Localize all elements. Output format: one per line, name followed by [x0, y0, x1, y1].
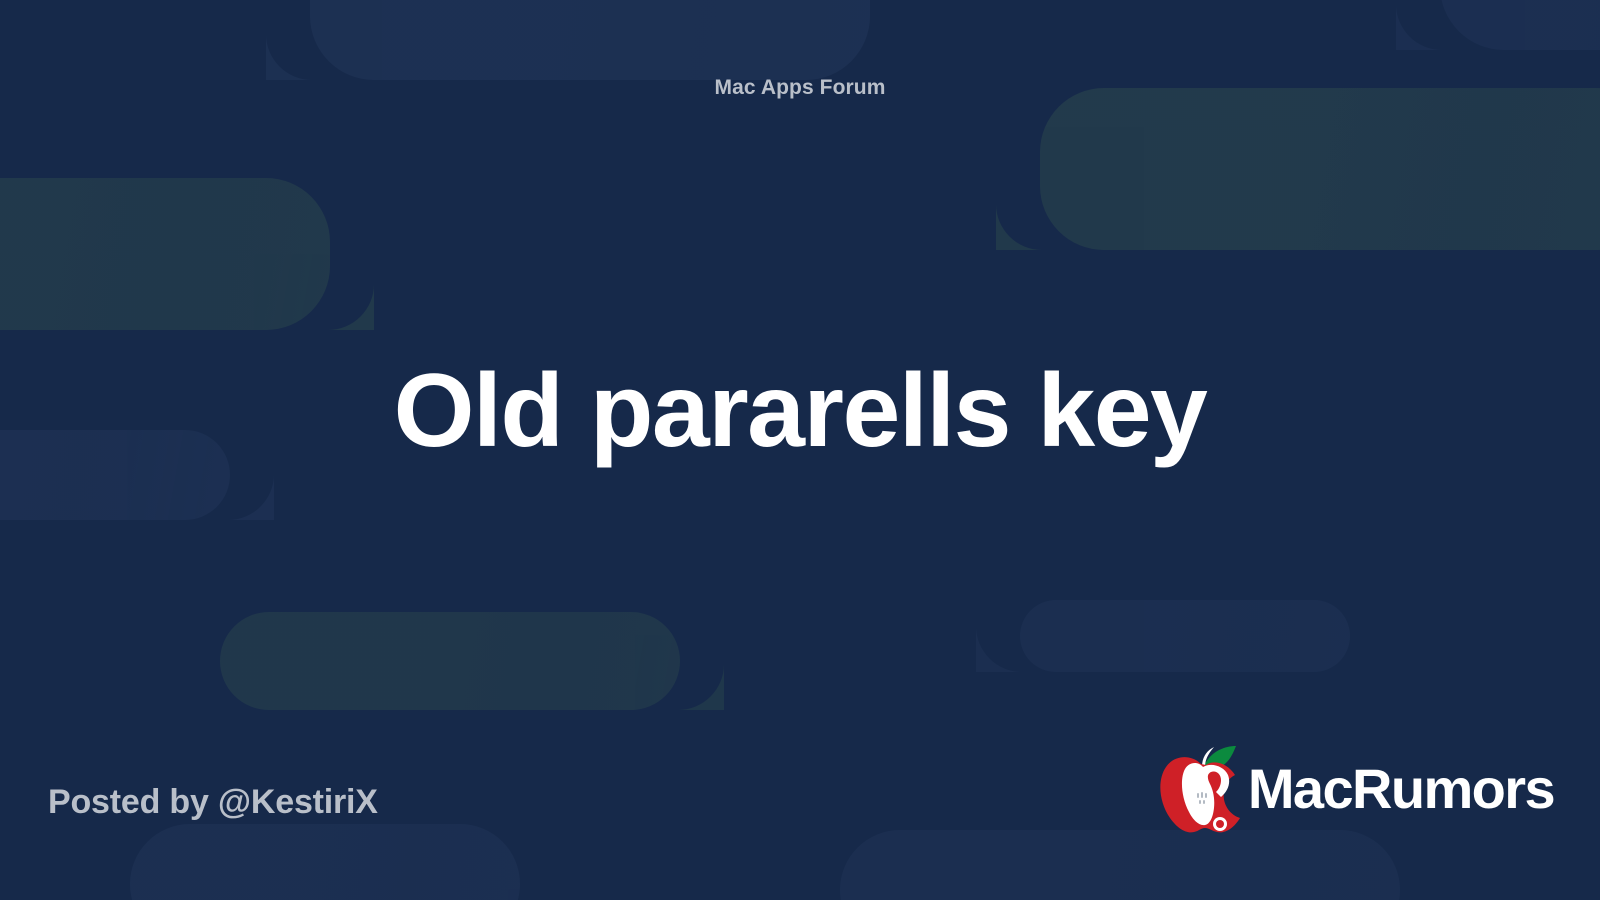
macrumors-wordmark: MacRumors: [1248, 761, 1554, 821]
forum-name-label: Mac Apps Forum: [0, 76, 1600, 100]
page-title: Old pararells key: [394, 354, 1207, 468]
macrumors-logo: MacRumors: [1158, 744, 1554, 838]
apple-question-mark-icon: [1158, 744, 1244, 838]
share-card: Mac Apps Forum Old pararells key Posted …: [0, 0, 1600, 900]
posted-by-label: Posted by @KestiriX: [48, 783, 378, 822]
card-content: Mac Apps Forum Old pararells key Posted …: [0, 0, 1600, 900]
